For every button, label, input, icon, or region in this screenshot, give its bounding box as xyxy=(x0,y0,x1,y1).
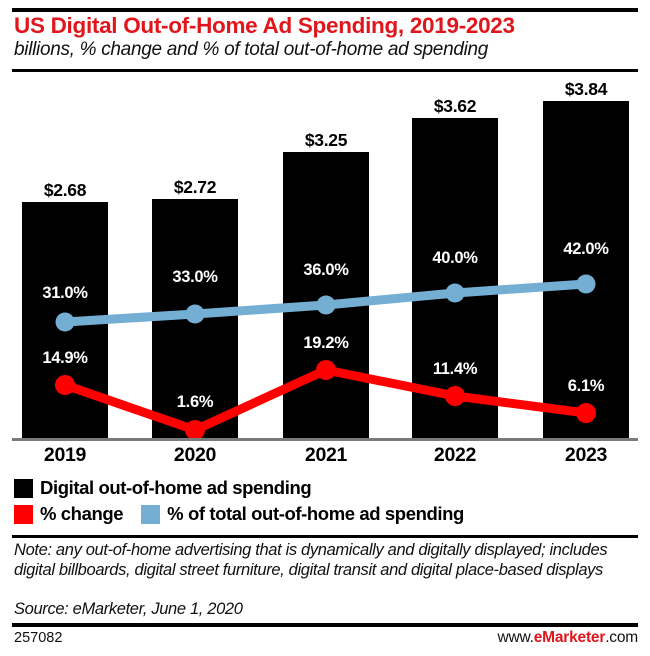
blue-point-2023 xyxy=(577,275,596,294)
legend-swatch-black-icon xyxy=(14,479,33,498)
plot-area: $2.68 $2.72 $3.25 $3.62 $3.84 31.0% 33.0… xyxy=(0,72,650,442)
legend-swatch-blue-icon xyxy=(141,505,160,524)
chart-figure: US Digital Out-of-Home Ad Spending, 2019… xyxy=(0,0,650,656)
figure-id: 257082 xyxy=(14,630,62,646)
red-value-label-2021: 19.2% xyxy=(276,334,376,353)
chart-legend: Digital out-of-home ad spending % change… xyxy=(14,477,640,527)
note-top-rule xyxy=(12,535,638,538)
blue-value-label-2019: 31.0% xyxy=(15,284,115,303)
legend-label-spending: Digital out-of-home ad spending xyxy=(40,477,311,499)
red-value-label-2019: 14.9% xyxy=(15,349,115,368)
brand-suffix: .com xyxy=(605,629,638,646)
red-point-2023 xyxy=(576,403,596,423)
brand-watermark: www.eMarketer.com xyxy=(498,629,638,647)
x-tick-2022: 2022 xyxy=(405,444,505,467)
blue-point-2021 xyxy=(317,296,336,315)
blue-point-2020 xyxy=(186,305,205,324)
x-axis-line xyxy=(12,438,638,441)
red-value-label-2022: 11.4% xyxy=(405,360,505,379)
red-point-2021 xyxy=(316,360,336,380)
blue-point-2022 xyxy=(446,284,465,303)
blue-value-label-2022: 40.0% xyxy=(405,249,505,268)
x-axis-tick-labels: 2019 2020 2021 2022 2023 xyxy=(0,444,650,472)
x-tick-2019: 2019 xyxy=(15,444,115,467)
red-value-label-2020: 1.6% xyxy=(145,393,245,412)
page-subtitle: billions, % change and % of total out-of… xyxy=(14,39,634,61)
x-tick-2023: 2023 xyxy=(536,444,636,467)
legend-label-pct-of-total: % of total out-of-home ad spending xyxy=(167,503,464,525)
source-text: Source: eMarketer, June 1, 2020 xyxy=(14,600,640,619)
x-tick-2020: 2020 xyxy=(145,444,245,467)
x-tick-2021: 2021 xyxy=(276,444,376,467)
footer-rule xyxy=(12,623,638,627)
header-top-rule xyxy=(12,8,638,12)
legend-swatch-red-icon xyxy=(14,505,33,524)
legend-label-pct-change: % change xyxy=(40,503,123,525)
blue-value-label-2023: 42.0% xyxy=(536,240,636,259)
legend-row-secondary: % change % of total out-of-home ad spend… xyxy=(14,503,464,525)
blue-point-2019 xyxy=(56,313,75,332)
blue-value-label-2021: 36.0% xyxy=(276,261,376,280)
red-value-label-2023: 6.1% xyxy=(536,377,636,396)
page-title: US Digital Out-of-Home Ad Spending, 2019… xyxy=(14,13,634,39)
red-point-2020 xyxy=(185,420,205,440)
brand-name: eMarketer xyxy=(534,629,605,646)
red-point-2019 xyxy=(55,375,75,395)
blue-value-label-2020: 33.0% xyxy=(145,268,245,287)
footnote-text: Note: any out-of-home advertising that i… xyxy=(14,541,640,580)
red-point-2022 xyxy=(445,386,465,406)
legend-item-spending: Digital out-of-home ad spending xyxy=(14,477,311,499)
brand-prefix: www. xyxy=(498,629,534,646)
